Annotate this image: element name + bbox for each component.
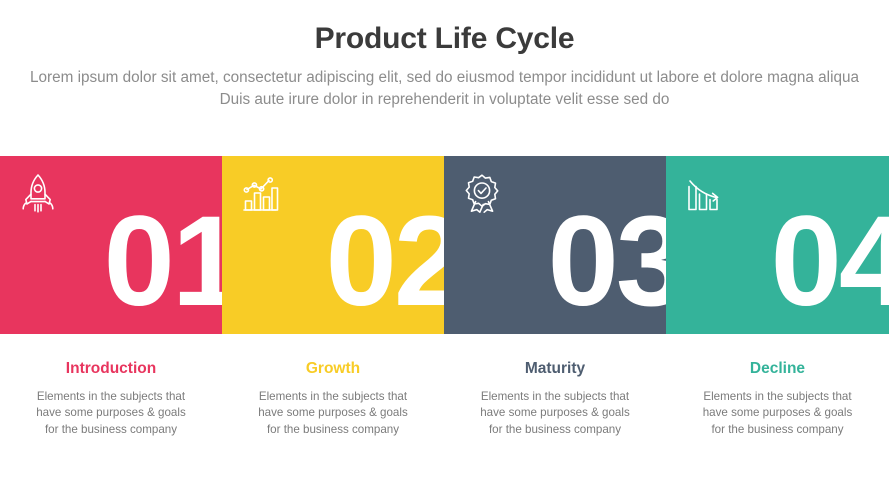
caption-description-line: for the business company <box>230 422 436 439</box>
award-badge-check-icon <box>458 170 506 218</box>
caption-title: Growth <box>230 360 436 379</box>
caption-description-line: Elements in the subjects that <box>674 389 881 406</box>
page-subtitle: Lorem ipsum dolor sit amet, consectetur … <box>30 67 860 111</box>
infographic-page: Product Life Cycle Lorem ipsum dolor sit… <box>0 0 889 500</box>
caption-description-line: Elements in the subjects that <box>8 389 214 406</box>
caption-description-line: have some purposes & goals <box>8 405 214 422</box>
caption-description-line: have some purposes & goals <box>452 405 658 422</box>
page-title: Product Life Cycle <box>0 22 889 55</box>
caption-description: Elements in the subjects that have some … <box>452 389 658 439</box>
stage-panel-introduction[interactable]: 01 <box>0 156 222 334</box>
stage-number: 03 <box>548 200 666 324</box>
stage-panel-growth[interactable]: 02 <box>222 156 444 334</box>
caption-description-line: have some purposes & goals <box>674 405 881 422</box>
stage-panel-decline[interactable]: 04 <box>666 156 889 334</box>
bar-chart-decline-icon <box>680 170 728 218</box>
stage-panel-maturity[interactable]: 03 <box>444 156 666 334</box>
stage-number: 02 <box>326 200 444 324</box>
caption-decline: Decline Elements in the subjects that ha… <box>666 360 889 439</box>
caption-description-line: Elements in the subjects that <box>452 389 658 406</box>
caption-description-line: Elements in the subjects that <box>230 389 436 406</box>
stage-number: 04 <box>771 200 889 324</box>
caption-maturity: Maturity Elements in the subjects that h… <box>444 360 666 439</box>
caption-description: Elements in the subjects that have some … <box>8 389 214 439</box>
rocket-icon <box>14 170 62 218</box>
stage-captions: Introduction Elements in the subjects th… <box>0 360 889 439</box>
bar-chart-growth-icon <box>236 170 284 218</box>
caption-title: Introduction <box>8 360 214 379</box>
caption-description-line: for the business company <box>452 422 658 439</box>
caption-description-line: for the business company <box>8 422 214 439</box>
caption-title: Decline <box>674 360 881 379</box>
caption-description: Elements in the subjects that have some … <box>230 389 436 439</box>
stage-band: 01 02 <box>0 156 889 334</box>
caption-growth: Growth Elements in the subjects that hav… <box>222 360 444 439</box>
caption-introduction: Introduction Elements in the subjects th… <box>0 360 222 439</box>
caption-description-line: have some purposes & goals <box>230 405 436 422</box>
header: Product Life Cycle Lorem ipsum dolor sit… <box>0 0 889 111</box>
stage-number: 01 <box>104 200 222 324</box>
caption-title: Maturity <box>452 360 658 379</box>
caption-description: Elements in the subjects that have some … <box>674 389 881 439</box>
caption-description-line: for the business company <box>674 422 881 439</box>
